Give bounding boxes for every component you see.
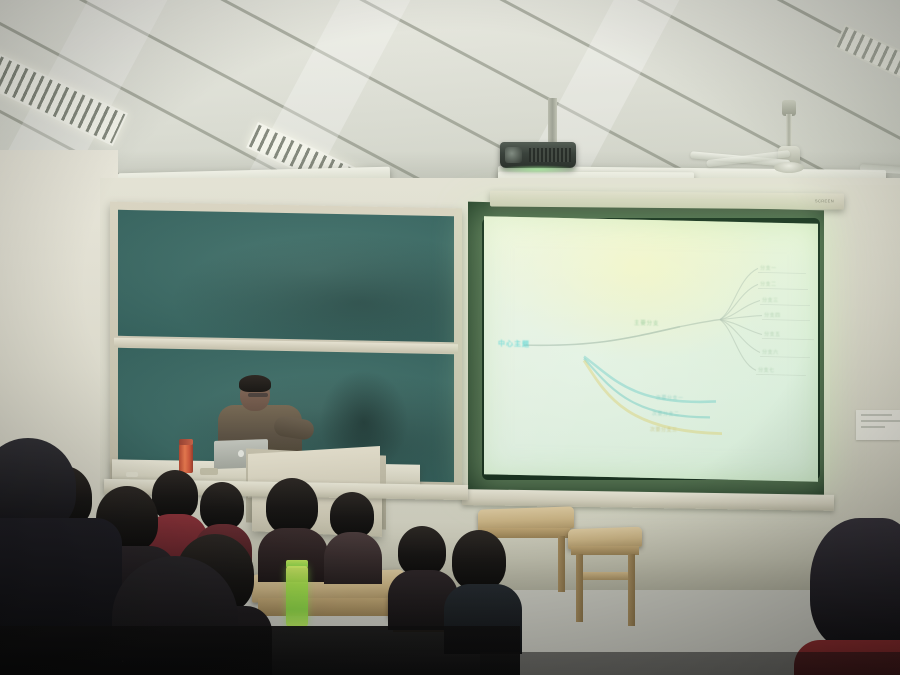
fan-cap <box>774 162 804 173</box>
mindmap-branch-6: 分支六 <box>762 349 779 356</box>
teacher-glasses <box>248 393 268 397</box>
student-seating-area <box>0 430 900 675</box>
fan-downrod <box>786 114 792 150</box>
teacher-hair <box>239 375 271 392</box>
classroom-photo: SCREEN <box>0 0 900 675</box>
screen-roller-case: SCREEN <box>490 190 844 209</box>
green-water-bottle <box>286 566 308 628</box>
mindmap-lower-branch-1: 次要分支一 <box>656 394 684 402</box>
foreground-shadow-band <box>0 626 520 675</box>
projector-vent <box>529 148 571 162</box>
mindmap-branch-1: 分支一 <box>760 264 777 271</box>
foreground-shadow-band-right <box>480 652 900 675</box>
recessed-grille-light-right <box>834 24 900 90</box>
projector-lens <box>505 147 522 163</box>
mindmap-branch-7: 分支七 <box>758 366 775 373</box>
mindmap-lower-branch-2: 次要分支二 <box>652 410 680 418</box>
screen-brand-label: SCREEN <box>815 198 834 203</box>
mindmap-branch-5: 分支五 <box>764 331 781 338</box>
mindmap-branch-3: 分支三 <box>762 297 779 304</box>
mindmap-branch-4: 分支四 <box>764 312 781 319</box>
blackboard-panel-upper <box>118 210 454 342</box>
mindmap-hub-label: 主要分支 <box>634 319 659 328</box>
mindmap-root-label: 中心主题 <box>498 339 530 350</box>
projector-beam-glow <box>496 165 580 174</box>
mindmap-branch-2: 分支二 <box>760 280 777 287</box>
projector-pole <box>548 98 557 144</box>
